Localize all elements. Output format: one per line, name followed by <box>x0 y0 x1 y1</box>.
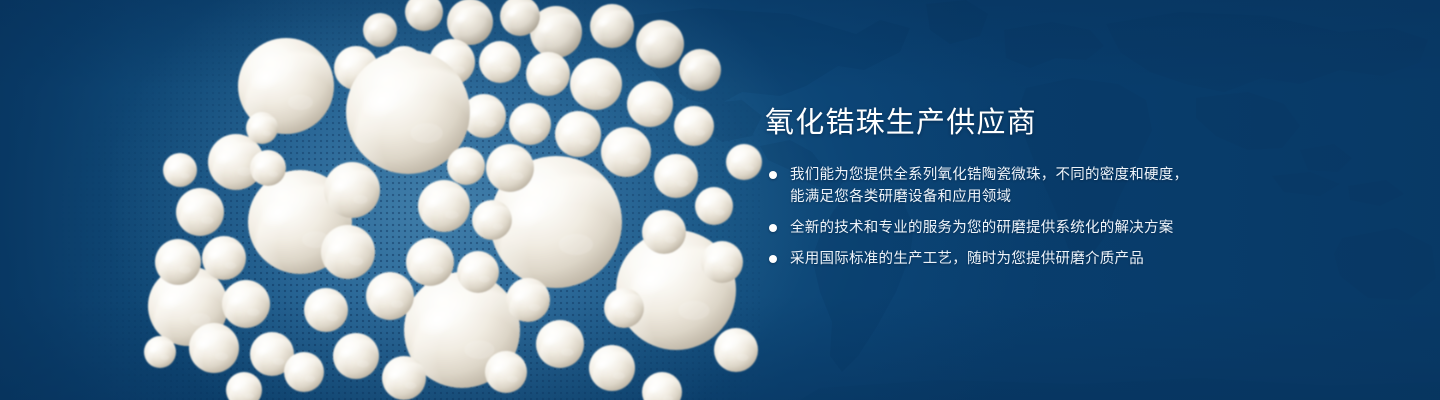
zirconia-beads-image <box>0 0 780 400</box>
bullet-dot-icon <box>769 171 777 179</box>
banner-bullet-list: 我们能为您提供全系列氧化锆陶瓷微珠，不同的密度和硬度， 能满足您各类研磨设备和应… <box>765 164 1235 270</box>
bullet-text-line-1: 采用国际标准的生产工艺，随时为您提供研磨介质产品 <box>790 251 1144 267</box>
banner-copy: 氧化锆珠生产供应商 我们能为您提供全系列氧化锆陶瓷微珠，不同的密度和硬度， 能满… <box>765 104 1235 270</box>
bullet-item: 我们能为您提供全系列氧化锆陶瓷微珠，不同的密度和硬度， 能满足您各类研磨设备和应… <box>765 164 1235 208</box>
bullet-text-line-1: 我们能为您提供全系列氧化锆陶瓷微珠，不同的密度和硬度， <box>790 167 1188 183</box>
bullet-item: 采用国际标准的生产工艺，随时为您提供研磨介质产品 <box>765 248 1235 270</box>
bullet-item: 全新的技术和专业的服务为您的研磨提供系统化的解决方案 <box>765 217 1235 239</box>
bullet-dot-icon <box>769 255 777 263</box>
bullet-dot-icon <box>769 224 777 232</box>
banner-headline: 氧化锆珠生产供应商 <box>765 104 1235 142</box>
bullet-text-line-1: 全新的技术和专业的服务为您的研磨提供系统化的解决方案 <box>790 220 1174 236</box>
bullet-text-line-2: 能满足您各类研磨设备和应用领域 <box>790 186 1235 208</box>
hero-banner: 氧化锆珠生产供应商 我们能为您提供全系列氧化锆陶瓷微珠，不同的密度和硬度， 能满… <box>0 0 1440 400</box>
